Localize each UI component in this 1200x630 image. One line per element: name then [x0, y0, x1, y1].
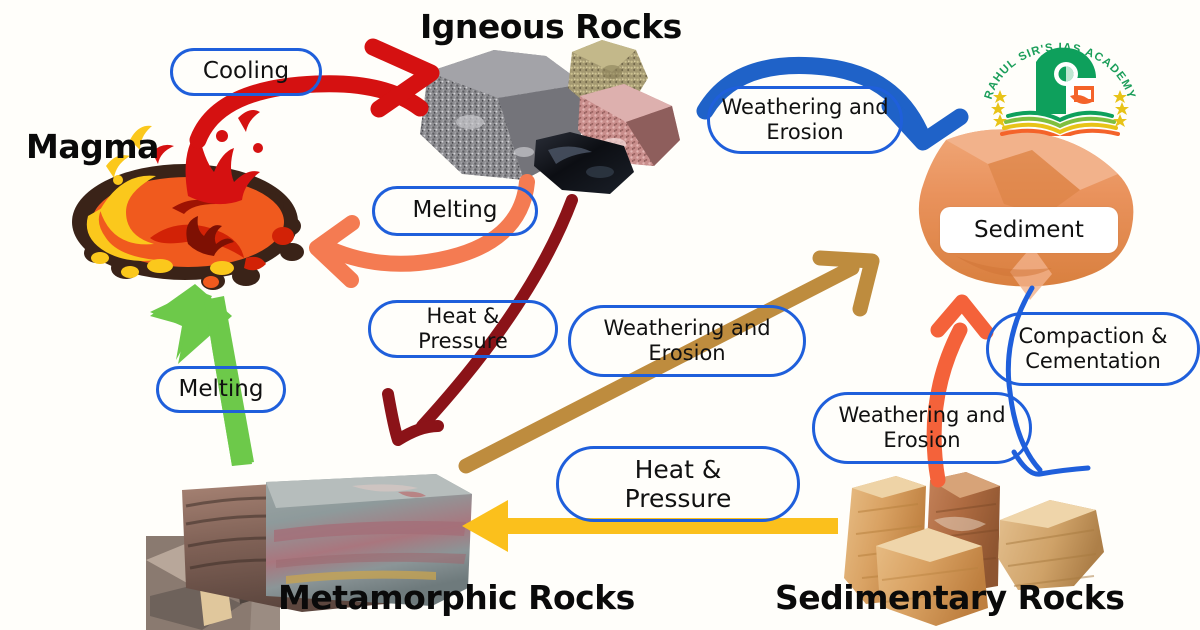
- edge-label-compaction-cementation: Compaction & Cementation: [986, 312, 1200, 386]
- edge-label-melting-metamorphic: Melting: [156, 366, 286, 413]
- edge-label-weathering-erosion-sedimentary: Weathering and Erosion: [812, 392, 1032, 464]
- node-title-sedimentary: Sedimentary Rocks: [775, 581, 1124, 614]
- edge-label-weathering-erosion-igneous: Weathering and Erosion: [707, 86, 903, 154]
- node-label-sediment: Sediment: [940, 207, 1118, 253]
- edge-label-heat-pressure-igneous: Heat & Pressure: [368, 300, 558, 358]
- edge-label-weathering-erosion-metamorphic: Weathering and Erosion: [568, 305, 806, 377]
- academy-logo-emblem: [1036, 48, 1096, 114]
- node-title-magma: Magma: [26, 130, 159, 163]
- edge-label-cooling: Cooling: [170, 48, 322, 96]
- rock-cycle-diagram: Igneous Rocks Magma Metamorphic Rocks Se…: [0, 0, 1200, 630]
- edge-label-heat-pressure-sedimentary: Heat & Pressure: [556, 446, 800, 522]
- academy-logo-book: [1002, 113, 1118, 136]
- node-title-igneous: Igneous Rocks: [420, 10, 682, 43]
- academy-logo: RAHUL SIR'S IAS ACADEMY: [978, 24, 1142, 136]
- edge-label-melting-igneous: Melting: [372, 186, 538, 236]
- igneous-rocks-photo: [420, 40, 680, 194]
- node-title-metamorphic: Metamorphic Rocks: [278, 581, 635, 614]
